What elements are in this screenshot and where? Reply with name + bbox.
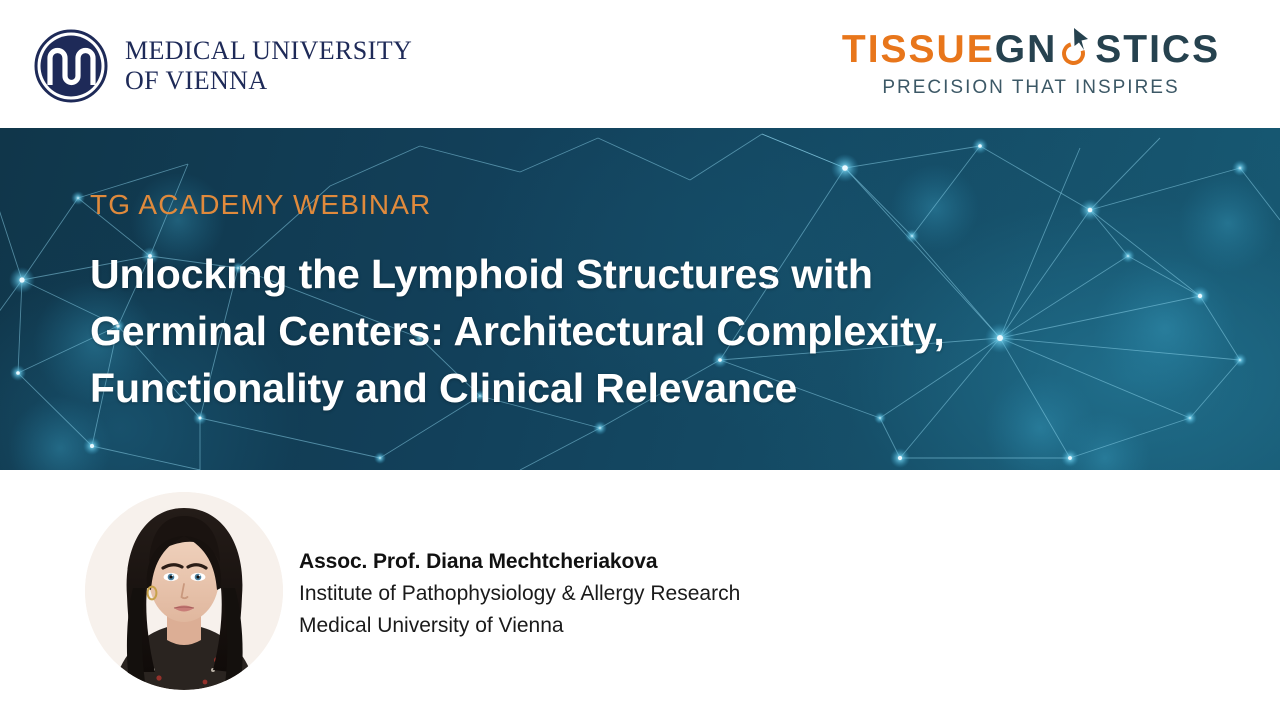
- university-name-line2: OF VIENNA: [125, 66, 412, 96]
- tg-word-tissue: TISSUE: [842, 28, 995, 72]
- meduni-circle-monogram-icon: [33, 28, 109, 104]
- tissuegnostics-tagline: PRECISION THAT INSPIRES: [836, 77, 1226, 99]
- tg-word-gn: GN: [995, 28, 1058, 72]
- page-title: Unlocking the Lymphoid Structures with G…: [90, 246, 1150, 417]
- speaker-portrait-photo: [85, 492, 283, 690]
- medunivienna-wordmark: MEDICAL UNIVERSITY OF VIENNA: [125, 36, 412, 96]
- speaker-section: Assoc. Prof. Diana Mechtcheriakova Insti…: [0, 470, 1280, 720]
- title-line-2: Germinal Centers: Architectural Complexi…: [90, 303, 1150, 360]
- medical-university-of-vienna-logo: MEDICAL UNIVERSITY OF VIENNA: [33, 27, 412, 105]
- header-bar: MEDICAL UNIVERSITY OF VIENNA TISSUEGN ST…: [0, 0, 1280, 128]
- title-line-1: Unlocking the Lymphoid Structures with: [90, 246, 1150, 303]
- title-banner: TG ACADEMY WEBINAR Unlocking the Lymphoi…: [0, 128, 1280, 470]
- speaker-info: Assoc. Prof. Diana Mechtcheriakova Insti…: [299, 546, 1099, 642]
- orange-ring-with-arrow-icon: [1057, 28, 1095, 72]
- navy-arrow-shape: [1065, 26, 1095, 56]
- speaker-name: Assoc. Prof. Diana Mechtcheriakova: [299, 546, 1099, 578]
- speaker-affiliation-line2: Medical University of Vienna: [299, 610, 1099, 642]
- tissuegnostics-logo: TISSUEGN STICS PRECISION THAT INSPIRES: [836, 28, 1226, 100]
- banner-text-group: TG ACADEMY WEBINAR Unlocking the Lymphoi…: [90, 188, 1150, 417]
- university-name-line1: MEDICAL UNIVERSITY: [125, 36, 412, 66]
- speaker-affiliation-line1: Institute of Pathophysiology & Allergy R…: [299, 578, 1099, 610]
- webinar-title-slide: MEDICAL UNIVERSITY OF VIENNA TISSUEGN ST…: [0, 0, 1280, 720]
- tissuegnostics-wordmark: TISSUEGN STICS: [836, 28, 1226, 72]
- title-line-3: Functionality and Clinical Relevance: [90, 360, 1150, 417]
- webinar-eyebrow-label: TG ACADEMY WEBINAR: [90, 188, 1150, 222]
- tg-word-stics: STICS: [1095, 28, 1220, 72]
